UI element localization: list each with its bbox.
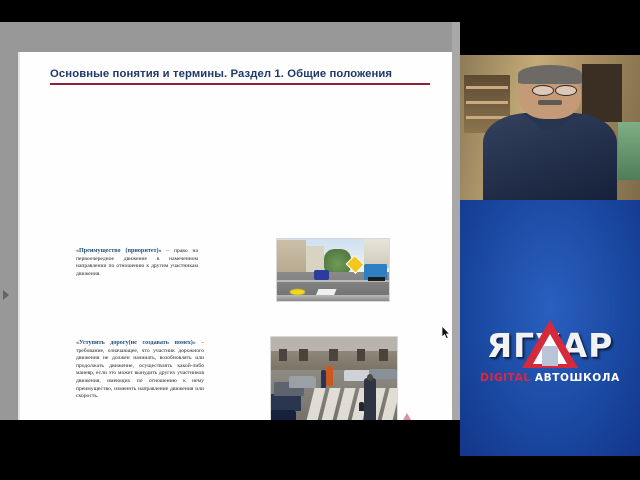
brand-panel: ЯГУАР DIGITAL АВТОШКОЛА: [460, 200, 640, 456]
definition-block-2: «Уступить дорогу(не создавать помех)» –т…: [76, 340, 204, 401]
slide-watermark: ЯГУАР: [376, 412, 438, 420]
logo-subtitle-autoschool: АВТОШКОЛА: [535, 372, 620, 384]
share-top-band: [0, 22, 452, 52]
title-underline: [50, 83, 430, 85]
glasses-icon: [532, 85, 554, 96]
screen-share-pane[interactable]: Основные понятия и термины. Раздел 1. Об…: [0, 22, 452, 420]
logo-subtitle: DIGITAL АВТОШКОЛА: [470, 372, 630, 384]
definition-text-1: «Преимущество (приоритет)» – право на пе…: [76, 248, 198, 278]
mouse-cursor: [442, 326, 451, 340]
definition-term-2: «Уступить дорогу(не создавать помех)»: [76, 340, 196, 346]
slide-watermark-text: ЯГУАР: [376, 419, 438, 420]
street-priority-sign-photo: [276, 238, 390, 302]
definition-body-2: –требование, означающее, что участник до…: [76, 340, 204, 399]
presentation-slide[interactable]: Основные понятия и термины. Раздел 1. Об…: [18, 52, 452, 420]
definition-text-2: «Уступить дорогу(не создавать помех)» –т…: [76, 340, 204, 401]
slide-title-area: Основные понятия и термины. Раздел 1. Об…: [50, 68, 432, 85]
definition-term-1: «Преимущество (приоритет)»: [76, 248, 162, 254]
mustache: [538, 100, 561, 105]
presenter-webcam[interactable]: [460, 55, 640, 200]
triangle-right-icon[interactable]: [3, 290, 9, 300]
screen: Основные понятия и термины. Раздел 1. Об…: [0, 0, 640, 480]
definition-block-1: «Преимущество (приоритет)» – право на пе…: [76, 248, 198, 278]
slide-left-edge: [18, 52, 20, 420]
pedestrian-crosswalk-photo: [270, 336, 398, 420]
page-title: Основные понятия и термины. Раздел 1. Об…: [50, 68, 432, 80]
pane-divider[interactable]: [452, 22, 460, 420]
jaguar-logo: ЯГУАР DIGITAL АВТОШКОЛА: [470, 320, 630, 398]
logo-subtitle-digital: DIGITAL: [480, 372, 531, 384]
